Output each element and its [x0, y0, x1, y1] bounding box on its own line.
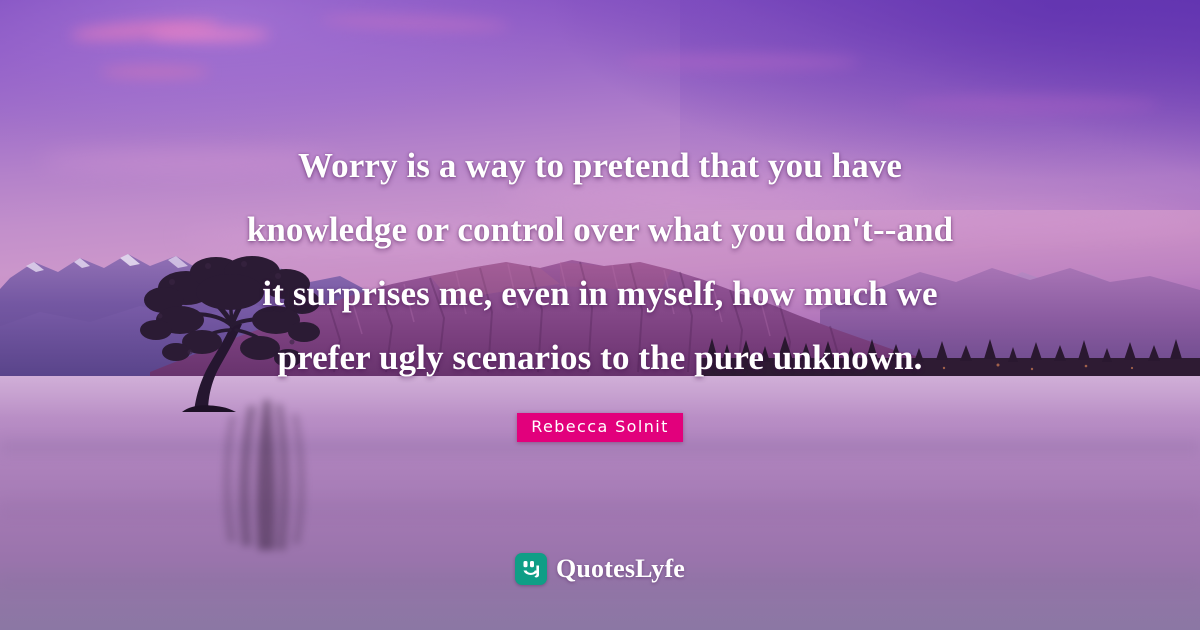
- quote-text: Worry is a way to pretend that you have …: [0, 134, 1200, 390]
- author-name-badge: Rebecca Solnit: [517, 413, 683, 442]
- quoteslyfe-wordmark: QuotesLyfe: [556, 554, 685, 584]
- quoteslyfe-logo[interactable]: QuotesLyfe: [0, 553, 1200, 585]
- author-badge-wrapper: Rebecca Solnit: [0, 413, 1200, 442]
- quote-image: Worry is a way to pretend that you have …: [0, 0, 1200, 630]
- quote-marks-icon: [515, 553, 547, 585]
